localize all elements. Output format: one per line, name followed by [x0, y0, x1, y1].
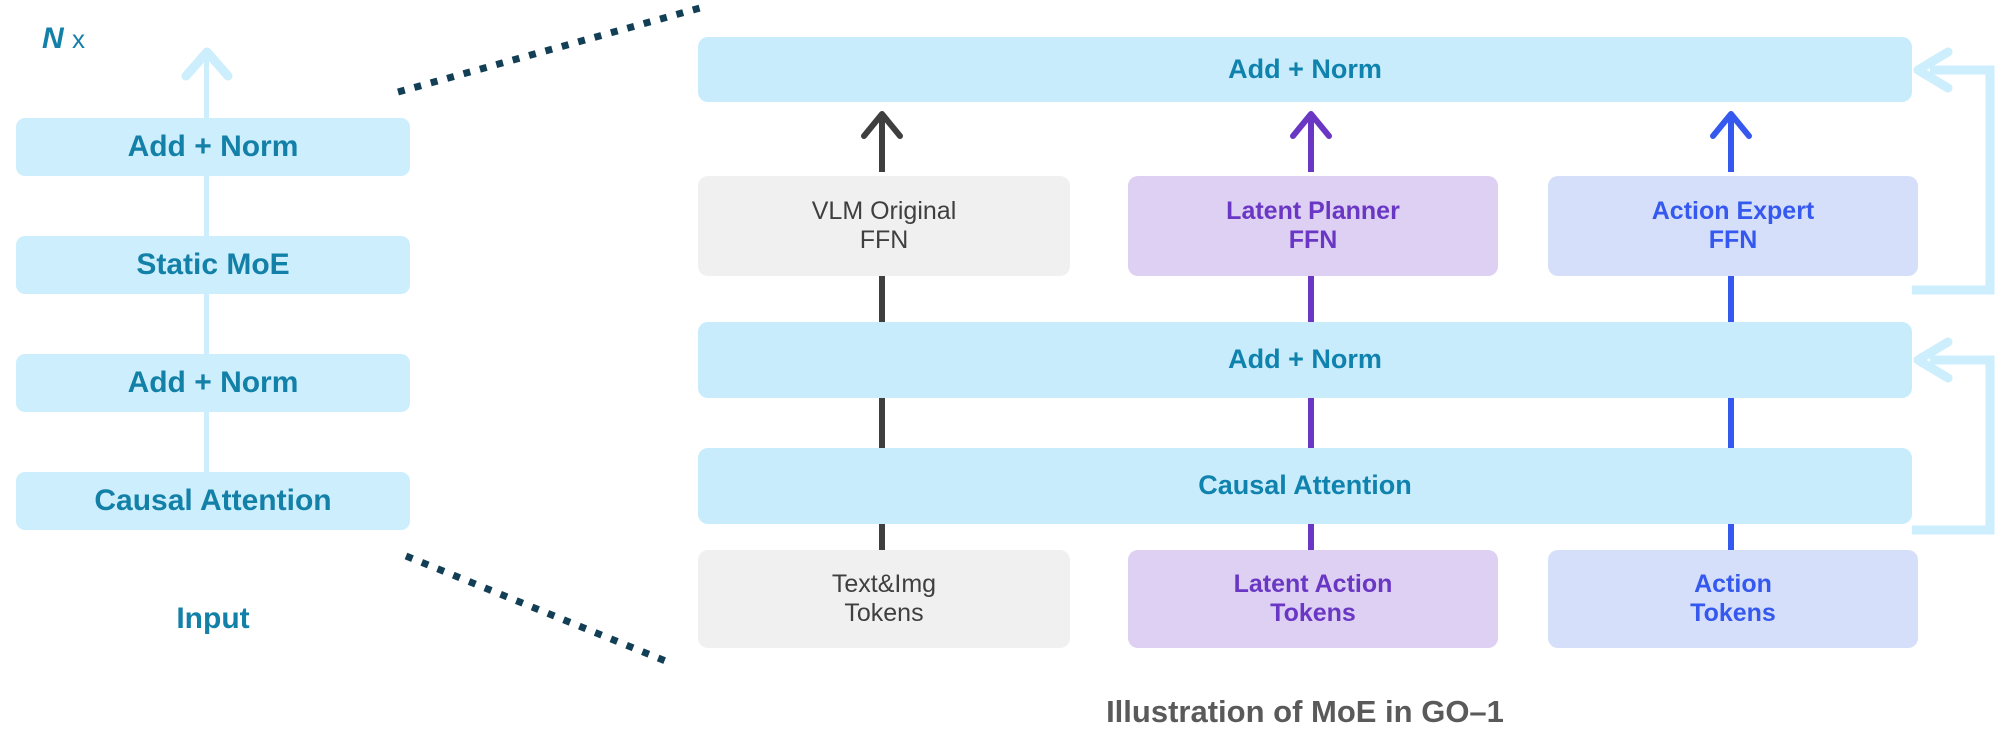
vline-action-mid [1728, 398, 1734, 448]
right-block-label: Causal Attention [1198, 470, 1412, 502]
arrow-latent-to-addnorm-icon [1293, 114, 1329, 172]
residual-connection-lower [1912, 342, 1990, 530]
vline-vlm-mid [879, 398, 885, 448]
left-block-static-moe[interactable]: Static MoE [16, 236, 410, 294]
token-label-line2: Tokens [1234, 599, 1393, 629]
left-block-label: Static MoE [136, 247, 289, 282]
left-block-add-norm-top[interactable]: Add + Norm [16, 118, 410, 176]
right-block-label: Add + Norm [1228, 54, 1382, 86]
dotted-connector-upper [398, 8, 700, 92]
residual-connection-upper [1912, 52, 1990, 290]
right-block-causal-attention[interactable]: Causal Attention [698, 448, 1912, 524]
right-block-add-norm-top[interactable]: Add + Norm [698, 37, 1912, 102]
vline-vlm-upper [879, 276, 885, 324]
token-latent-action[interactable]: Latent Action Tokens [1128, 550, 1498, 648]
token-label-line1: Text&Img [832, 570, 936, 600]
repeat-count-label: N x [42, 22, 85, 56]
expert-vlm-original-ffn[interactable]: VLM Original FFN [698, 176, 1070, 276]
vline-latent-mid [1308, 398, 1314, 448]
left-block-label: Add + Norm [128, 365, 299, 400]
figure-caption: Illustration of MoE in GO–1 [698, 694, 1912, 730]
right-block-label: Add + Norm [1228, 344, 1382, 376]
arrow-action-to-addnorm-icon [1713, 114, 1749, 172]
token-action[interactable]: Action Tokens [1548, 550, 1918, 648]
diagram-canvas: N x Add + Norm Static MoE Add + Norm Cau… [0, 0, 2014, 748]
expert-label-line1: VLM Original [812, 197, 957, 227]
token-label-line1: Latent Action [1234, 570, 1393, 600]
token-label-line1: Action [1690, 570, 1776, 600]
vline-action-upper [1728, 276, 1734, 324]
expert-action-expert-ffn[interactable]: Action Expert FFN [1548, 176, 1918, 276]
left-block-add-norm-bottom[interactable]: Add + Norm [16, 354, 410, 412]
token-label-line2: Tokens [1690, 599, 1776, 629]
token-label-line2: Tokens [832, 599, 936, 629]
left-block-label: Causal Attention [94, 483, 331, 518]
right-block-add-norm-mid[interactable]: Add + Norm [698, 322, 1912, 398]
expert-latent-planner-ffn[interactable]: Latent Planner FFN [1128, 176, 1498, 276]
repeat-count-x: x [72, 24, 85, 54]
expert-label-line2: FFN [1226, 226, 1400, 256]
left-block-label: Add + Norm [128, 129, 299, 164]
input-label: Input [16, 602, 410, 636]
expert-label-line2: FFN [812, 226, 957, 256]
arrow-vlm-to-addnorm-icon [864, 114, 900, 172]
dotted-connector-lower [406, 556, 668, 662]
vline-latent-upper [1308, 276, 1314, 324]
left-block-causal-attention[interactable]: Causal Attention [16, 472, 410, 530]
expert-label-line1: Latent Planner [1226, 197, 1400, 227]
repeat-count-n: N [42, 22, 64, 55]
expert-label-line1: Action Expert [1652, 197, 1815, 227]
expert-label-line2: FFN [1652, 226, 1815, 256]
token-text-img[interactable]: Text&Img Tokens [698, 550, 1070, 648]
